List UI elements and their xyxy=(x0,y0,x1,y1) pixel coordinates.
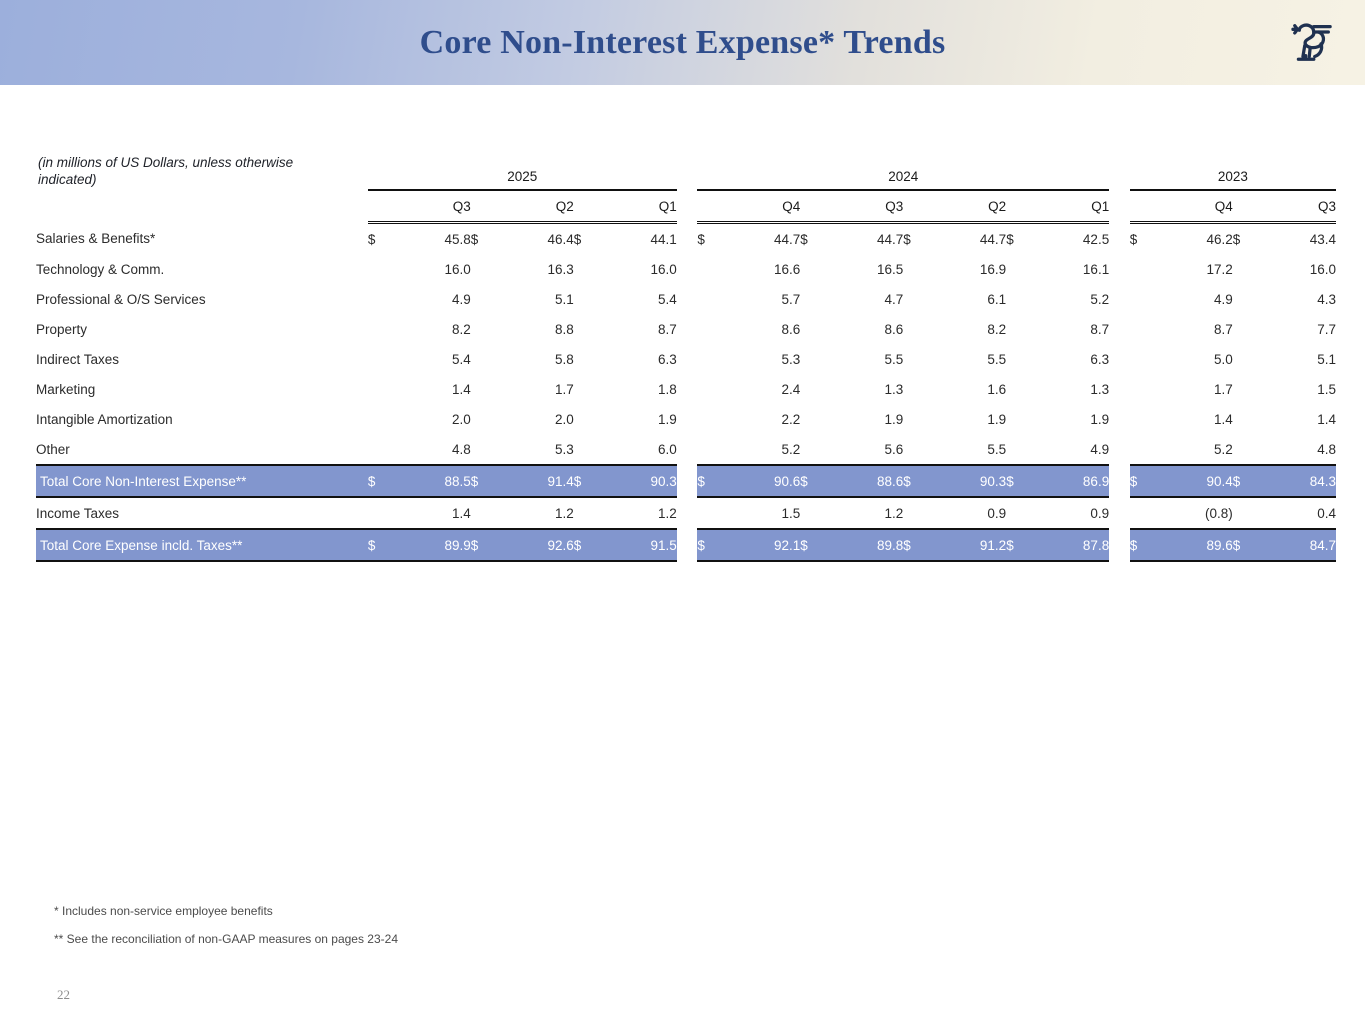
cell-2024-q4: 8.6 xyxy=(727,314,800,344)
cell-2025-q2: 5.8 xyxy=(501,344,574,374)
cell-2024-q1: 5.2 xyxy=(1036,284,1109,314)
cell-2023-q3: 84.3 xyxy=(1262,465,1336,497)
currency-symbol: $ xyxy=(368,223,398,255)
quarter-header-row: Q3 Q2 Q1 Q4 Q3 Q2 Q1 Q4 Q3 xyxy=(36,190,1336,223)
table-row: Salaries & Benefits* $ 45.8 $ 46.4 $ 44.… xyxy=(36,223,1336,255)
group-gap xyxy=(1109,529,1130,561)
col-header-2023-q3: Q3 xyxy=(1233,190,1336,223)
currency-symbol: $ xyxy=(1233,223,1263,255)
col-header-2025-q3: Q3 xyxy=(368,190,471,223)
footnotes: * Includes non-service employee benefits… xyxy=(54,905,398,961)
col-header-2024-q2: Q2 xyxy=(903,190,1006,223)
cell-2025-q1: 91.5 xyxy=(603,529,676,561)
cell-2024-q3: 16.5 xyxy=(830,254,903,284)
group-gap xyxy=(677,223,698,255)
blank xyxy=(800,314,830,344)
row-label: Intangible Amortization xyxy=(36,404,368,434)
cell-2025-q2: 92.6 xyxy=(501,529,574,561)
blank xyxy=(800,374,830,404)
group-gap xyxy=(677,374,698,404)
col-header-2025-q1: Q1 xyxy=(574,190,677,223)
blank xyxy=(471,374,501,404)
group-gap xyxy=(1109,314,1130,344)
cell-2024-q4: 92.1 xyxy=(727,529,800,561)
row-label: Salaries & Benefits* xyxy=(36,223,368,255)
cell-2025-q3: 89.9 xyxy=(398,529,471,561)
cell-2025-q1: 90.3 xyxy=(603,465,676,497)
currency-symbol: $ xyxy=(574,223,604,255)
footnote-single-asterisk: * Includes non-service employee benefits xyxy=(54,905,398,917)
blank xyxy=(574,374,604,404)
blank xyxy=(903,374,933,404)
cell-2024-q1: 16.1 xyxy=(1036,254,1109,284)
currency-symbol: $ xyxy=(368,529,398,561)
cell-2025-q2: 16.3 xyxy=(501,254,574,284)
cell-2024-q2: 1.6 xyxy=(933,374,1006,404)
currency-symbol: $ xyxy=(903,465,933,497)
blank xyxy=(800,254,830,284)
cell-2024-q4: 2.4 xyxy=(727,374,800,404)
cell-2024-q2: 1.9 xyxy=(933,404,1006,434)
blank xyxy=(1233,314,1263,344)
cell-2025-q2: 1.7 xyxy=(501,374,574,404)
blank xyxy=(697,497,727,529)
group-gap xyxy=(1109,344,1130,374)
currency-symbol: $ xyxy=(800,465,830,497)
row-label: Marketing xyxy=(36,374,368,404)
cell-2023-q3: 16.0 xyxy=(1262,254,1336,284)
currency-symbol: $ xyxy=(471,223,501,255)
blank xyxy=(574,344,604,374)
blank xyxy=(903,314,933,344)
cell-2024-q1: 1.3 xyxy=(1036,374,1109,404)
cell-2025-q2: 2.0 xyxy=(501,404,574,434)
cell-2024-q4: 1.5 xyxy=(727,497,800,529)
cell-2023-q4: 17.2 xyxy=(1160,254,1233,284)
cell-2023-q4: 8.7 xyxy=(1160,314,1233,344)
blank xyxy=(368,434,398,465)
cell-2024-q4: 44.7 xyxy=(727,223,800,255)
blank xyxy=(903,497,933,529)
cell-2024-q3: 8.6 xyxy=(830,314,903,344)
blank xyxy=(1233,344,1263,374)
blank xyxy=(1130,497,1160,529)
blank xyxy=(1006,314,1036,344)
cell-2023-q3: 4.8 xyxy=(1262,434,1336,465)
cell-2023-q4: 4.9 xyxy=(1160,284,1233,314)
cell-2023-q4: 90.4 xyxy=(1160,465,1233,497)
currency-symbol: $ xyxy=(1130,529,1160,561)
currency-symbol: $ xyxy=(1006,223,1036,255)
group-gap xyxy=(677,497,698,529)
blank xyxy=(1233,374,1263,404)
currency-symbol: $ xyxy=(800,223,830,255)
cell-2023-q3: 0.4 xyxy=(1262,497,1336,529)
blank xyxy=(368,497,398,529)
cell-2024-q1: 0.9 xyxy=(1036,497,1109,529)
year-group-2023: 2023 xyxy=(1130,163,1336,190)
cell-2025-q3: 45.8 xyxy=(398,223,471,255)
row-label: Income Taxes xyxy=(36,497,368,529)
cell-2025-q2: 5.1 xyxy=(501,284,574,314)
group-gap xyxy=(677,314,698,344)
blank xyxy=(1006,374,1036,404)
cell-2024-q2: 44.7 xyxy=(933,223,1006,255)
cell-2024-q2: 0.9 xyxy=(933,497,1006,529)
cell-2024-q4: 5.2 xyxy=(727,434,800,465)
blank xyxy=(903,254,933,284)
cell-2023-q4: 5.2 xyxy=(1160,434,1233,465)
col-header-2024-q1: Q1 xyxy=(1006,190,1109,223)
footnote-double-asterisk: ** See the reconciliation of non-GAAP me… xyxy=(54,933,398,945)
cell-2024-q4: 5.7 xyxy=(727,284,800,314)
cell-2023-q4: 5.0 xyxy=(1160,344,1233,374)
group-gap xyxy=(1109,254,1130,284)
group-gap xyxy=(1109,434,1130,465)
currency-symbol: $ xyxy=(903,223,933,255)
cell-2024-q3: 5.6 xyxy=(830,434,903,465)
cell-2024-q1: 8.7 xyxy=(1036,314,1109,344)
cell-2025-q1: 6.0 xyxy=(603,434,676,465)
cell-2024-q2: 16.9 xyxy=(933,254,1006,284)
corner-blank xyxy=(36,163,368,190)
blank xyxy=(800,344,830,374)
cell-2025-q2: 1.2 xyxy=(501,497,574,529)
currency-symbol: $ xyxy=(368,465,398,497)
cell-2023-q3: 1.5 xyxy=(1262,374,1336,404)
blank xyxy=(574,404,604,434)
cell-2024-q1: 1.9 xyxy=(1036,404,1109,434)
blank xyxy=(471,404,501,434)
blank xyxy=(697,404,727,434)
blank xyxy=(1130,284,1160,314)
total-core-expense-row: Total Core Non-Interest Expense** $ 88.5… xyxy=(36,465,1336,497)
cell-2024-q3: 5.5 xyxy=(830,344,903,374)
blank xyxy=(471,434,501,465)
cell-2023-q4: 1.7 xyxy=(1160,374,1233,404)
blank xyxy=(471,344,501,374)
blank xyxy=(1130,404,1160,434)
cell-2024-q3: 44.7 xyxy=(830,223,903,255)
group-gap xyxy=(677,465,698,497)
blank xyxy=(574,434,604,465)
blank xyxy=(1233,497,1263,529)
blank xyxy=(800,497,830,529)
quarter-row-blank xyxy=(36,190,368,223)
page-number: 22 xyxy=(57,987,70,1003)
blank xyxy=(1130,344,1160,374)
blank xyxy=(697,434,727,465)
cell-2024-q1: 6.3 xyxy=(1036,344,1109,374)
row-label: Professional & O/S Services xyxy=(36,284,368,314)
blank xyxy=(903,404,933,434)
cell-2025-q3: 1.4 xyxy=(398,497,471,529)
currency-symbol: $ xyxy=(1130,465,1160,497)
col-header-2024-q4: Q4 xyxy=(697,190,800,223)
cell-2025-q3: 1.4 xyxy=(398,374,471,404)
cell-2024-q3: 4.7 xyxy=(830,284,903,314)
currency-symbol: $ xyxy=(697,465,727,497)
cell-2024-q1: 87.8 xyxy=(1036,529,1109,561)
blank xyxy=(471,497,501,529)
group-gap xyxy=(677,434,698,465)
cell-2024-q1: 86.9 xyxy=(1036,465,1109,497)
group-gap xyxy=(677,529,698,561)
currency-symbol: $ xyxy=(1006,529,1036,561)
table-row: Professional & O/S Services 4.9 5.1 5.4 … xyxy=(36,284,1336,314)
currency-symbol: $ xyxy=(1233,465,1263,497)
blank xyxy=(1233,434,1263,465)
cell-2024-q2: 6.1 xyxy=(933,284,1006,314)
cell-2025-q1: 1.9 xyxy=(603,404,676,434)
group-gap xyxy=(1109,404,1130,434)
cell-2025-q3: 4.8 xyxy=(398,434,471,465)
cell-2023-q4: 1.4 xyxy=(1160,404,1233,434)
cell-2025-q1: 6.3 xyxy=(603,344,676,374)
cell-2023-q3: 43.4 xyxy=(1262,223,1336,255)
cell-2024-q2: 5.5 xyxy=(933,434,1006,465)
group-gap xyxy=(1109,497,1130,529)
cell-2023-q3: 4.3 xyxy=(1262,284,1336,314)
row-label: Property xyxy=(36,314,368,344)
table-row: Technology & Comm. 16.0 16.3 16.0 16.6 1… xyxy=(36,254,1336,284)
income-taxes-row: Income Taxes 1.4 1.2 1.2 1.5 1.2 0.9 0.9… xyxy=(36,497,1336,529)
cell-2025-q3: 16.0 xyxy=(398,254,471,284)
col-header-2023-q4: Q4 xyxy=(1130,190,1233,223)
blank xyxy=(903,344,933,374)
row-label: Other xyxy=(36,434,368,465)
cell-2024-q3: 1.2 xyxy=(830,497,903,529)
cell-2023-q4: 89.6 xyxy=(1160,529,1233,561)
currency-symbol: $ xyxy=(574,529,604,561)
cell-2024-q2: 90.3 xyxy=(933,465,1006,497)
group-gap xyxy=(1109,465,1130,497)
cell-2023-q3: 84.7 xyxy=(1262,529,1336,561)
blank xyxy=(1006,254,1036,284)
blank xyxy=(368,314,398,344)
cell-2025-q2: 8.8 xyxy=(501,314,574,344)
currency-symbol: $ xyxy=(1006,465,1036,497)
cell-2024-q1: 42.5 xyxy=(1036,223,1109,255)
currency-symbol: $ xyxy=(903,529,933,561)
cell-2025-q1: 5.4 xyxy=(603,284,676,314)
cell-2025-q2: 5.3 xyxy=(501,434,574,465)
blank xyxy=(697,314,727,344)
slide-body: (in millions of US Dollars, unless other… xyxy=(0,85,1365,1024)
group-gap xyxy=(1109,223,1130,255)
group-gap-2b xyxy=(1109,190,1130,223)
currency-symbol: $ xyxy=(574,465,604,497)
blank xyxy=(1006,434,1036,465)
cell-2024-q3: 88.6 xyxy=(830,465,903,497)
col-header-2024-q3: Q3 xyxy=(800,190,903,223)
page-title: Core Non-Interest Expense* Trends xyxy=(420,24,946,62)
blank xyxy=(903,434,933,465)
blank xyxy=(368,284,398,314)
blank xyxy=(368,344,398,374)
cell-2024-q4: 16.6 xyxy=(727,254,800,284)
currency-symbol: $ xyxy=(471,529,501,561)
blank xyxy=(1233,284,1263,314)
cell-2025-q3: 88.5 xyxy=(398,465,471,497)
cell-2024-q1: 4.9 xyxy=(1036,434,1109,465)
cell-2023-q3: 1.4 xyxy=(1262,404,1336,434)
group-gap xyxy=(1109,284,1130,314)
cell-2025-q1: 1.8 xyxy=(603,374,676,404)
cell-2025-q3: 2.0 xyxy=(398,404,471,434)
cell-2025-q1: 44.1 xyxy=(603,223,676,255)
cell-2023-q4: (0.8) xyxy=(1160,497,1233,529)
cell-2023-q4: 46.2 xyxy=(1160,223,1233,255)
cell-2024-q4: 5.3 xyxy=(727,344,800,374)
year-header-row: 2025 2024 2023 xyxy=(36,163,1336,190)
table-row: Marketing 1.4 1.7 1.8 2.4 1.3 1.6 1.3 1.… xyxy=(36,374,1336,404)
group-gap xyxy=(1109,374,1130,404)
blank xyxy=(1006,284,1036,314)
table-row: Indirect Taxes 5.4 5.8 6.3 5.3 5.5 5.5 6… xyxy=(36,344,1336,374)
cell-2025-q2: 46.4 xyxy=(501,223,574,255)
blank xyxy=(1006,497,1036,529)
table-row: Property 8.2 8.8 8.7 8.6 8.6 8.2 8.7 8.7 xyxy=(36,314,1336,344)
cell-2024-q3: 89.8 xyxy=(830,529,903,561)
row-label: Total Core Non-Interest Expense** xyxy=(36,465,368,497)
blank xyxy=(1006,404,1036,434)
cell-2025-q2: 91.4 xyxy=(501,465,574,497)
blank xyxy=(903,284,933,314)
cell-2025-q3: 5.4 xyxy=(398,344,471,374)
currency-symbol: $ xyxy=(697,223,727,255)
cell-2024-q4: 90.6 xyxy=(727,465,800,497)
blank xyxy=(471,284,501,314)
blank xyxy=(1006,344,1036,374)
blank xyxy=(1233,404,1263,434)
blank xyxy=(1130,254,1160,284)
currency-symbol: $ xyxy=(800,529,830,561)
cell-2025-q1: 8.7 xyxy=(603,314,676,344)
currency-symbol: $ xyxy=(1130,223,1160,255)
year-group-2025: 2025 xyxy=(368,163,677,190)
cell-2024-q4: 2.2 xyxy=(727,404,800,434)
row-label: Technology & Comm. xyxy=(36,254,368,284)
row-label: Indirect Taxes xyxy=(36,344,368,374)
blank xyxy=(471,254,501,284)
core-expense-table: 2025 2024 2023 Q3 Q2 Q1 Q4 Q3 Q2 Q1 Q4 Q… xyxy=(36,163,1336,562)
cell-2024-q3: 1.9 xyxy=(830,404,903,434)
griffin-icon xyxy=(1283,13,1341,71)
blank xyxy=(1233,254,1263,284)
currency-symbol: $ xyxy=(697,529,727,561)
cell-2025-q1: 1.2 xyxy=(603,497,676,529)
blank xyxy=(1130,434,1160,465)
blank xyxy=(574,284,604,314)
cell-2025-q1: 16.0 xyxy=(603,254,676,284)
currency-symbol: $ xyxy=(1233,529,1263,561)
blank xyxy=(1130,314,1160,344)
cell-2024-q3: 1.3 xyxy=(830,374,903,404)
table-row: Other 4.8 5.3 6.0 5.2 5.6 5.5 4.9 5.2 xyxy=(36,434,1336,465)
blank xyxy=(697,254,727,284)
blank xyxy=(697,374,727,404)
table-row: Intangible Amortization 2.0 2.0 1.9 2.2 … xyxy=(36,404,1336,434)
total-incl-taxes-row: Total Core Expense incld. Taxes** $ 89.9… xyxy=(36,529,1336,561)
blank xyxy=(368,254,398,284)
group-gap xyxy=(677,404,698,434)
cell-2024-q2: 8.2 xyxy=(933,314,1006,344)
blank xyxy=(800,404,830,434)
blank xyxy=(1130,374,1160,404)
blank xyxy=(471,314,501,344)
blank xyxy=(800,284,830,314)
cell-2025-q3: 4.9 xyxy=(398,284,471,314)
blank xyxy=(368,404,398,434)
group-gap xyxy=(677,344,698,374)
blank xyxy=(574,254,604,284)
year-group-2024: 2024 xyxy=(697,163,1109,190)
group-gap xyxy=(677,254,698,284)
row-label: Total Core Expense incld. Taxes** xyxy=(36,529,368,561)
cell-2024-q2: 5.5 xyxy=(933,344,1006,374)
currency-symbol: $ xyxy=(471,465,501,497)
blank xyxy=(800,434,830,465)
cell-2025-q3: 8.2 xyxy=(398,314,471,344)
page-header-banner: Core Non-Interest Expense* Trends xyxy=(0,0,1365,85)
blank xyxy=(697,284,727,314)
butterfield-griffin-logo xyxy=(1281,11,1343,73)
expense-table-container: 2025 2024 2023 Q3 Q2 Q1 Q4 Q3 Q2 Q1 Q4 Q… xyxy=(36,163,1336,562)
group-gap-1 xyxy=(677,163,698,190)
group-gap xyxy=(677,284,698,314)
cell-2024-q2: 91.2 xyxy=(933,529,1006,561)
group-gap-1b xyxy=(677,190,698,223)
blank xyxy=(697,344,727,374)
blank xyxy=(368,374,398,404)
cell-2023-q3: 5.1 xyxy=(1262,344,1336,374)
blank xyxy=(574,497,604,529)
blank xyxy=(574,314,604,344)
col-header-2025-q2: Q2 xyxy=(471,190,574,223)
group-gap-2 xyxy=(1109,163,1130,190)
cell-2023-q3: 7.7 xyxy=(1262,314,1336,344)
